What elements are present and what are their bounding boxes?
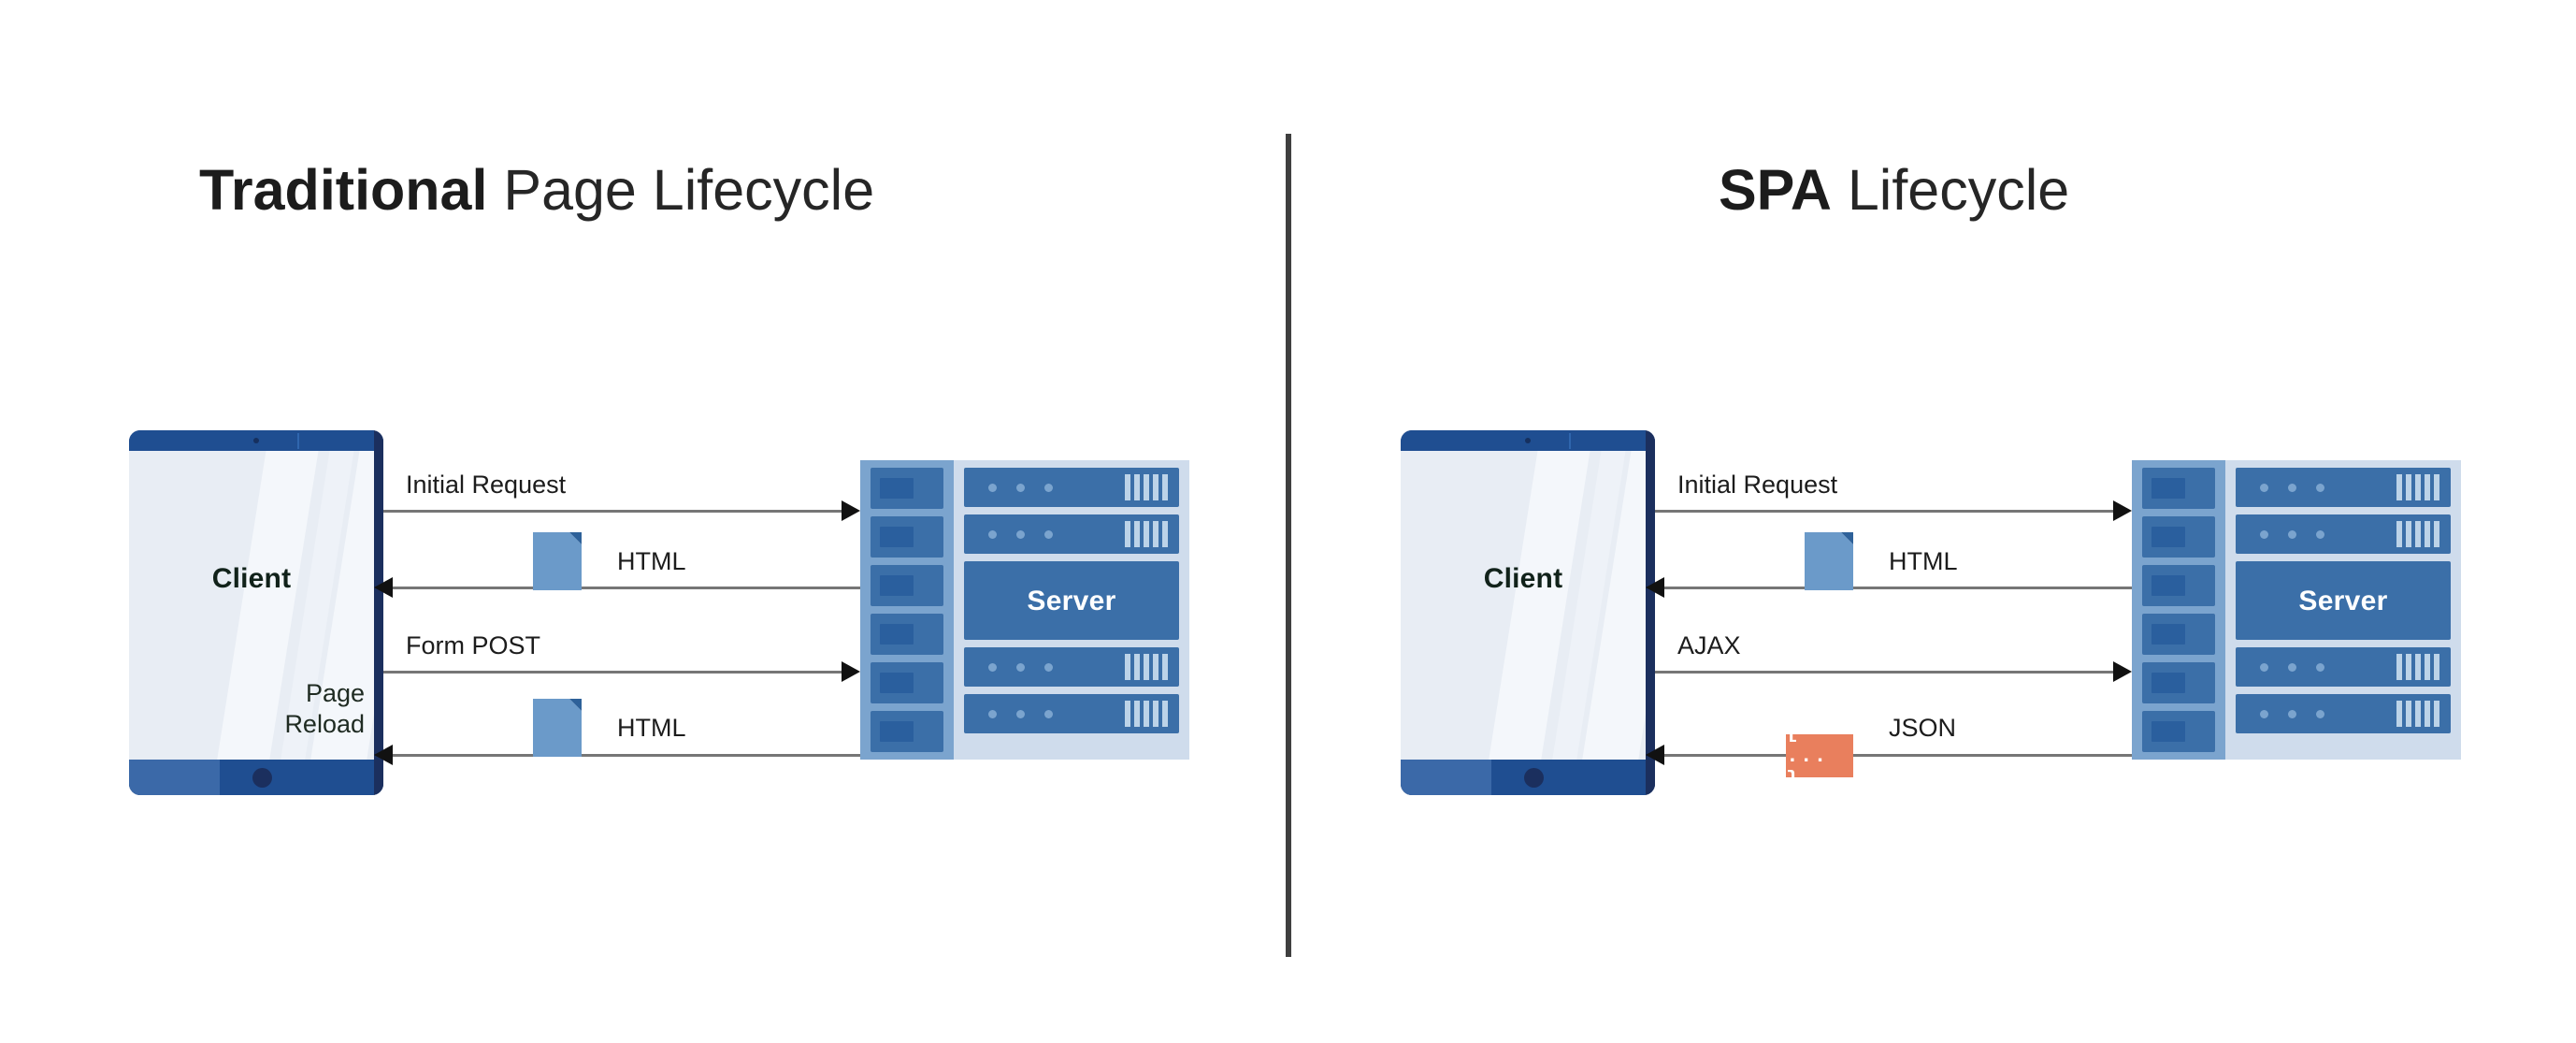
status-led-icon <box>2316 530 2324 539</box>
page-title-spa: SPA Lifecycle <box>1719 157 2069 223</box>
vent-bars-icon <box>1125 654 1168 680</box>
status-led-icon <box>1044 663 1053 672</box>
rack-bay <box>871 516 943 558</box>
status-led-icon <box>2288 663 2296 672</box>
client-label-spa: Client <box>1401 563 1646 595</box>
vent-bars-icon <box>2396 701 2439 727</box>
flow-line-html-2-traditional <box>393 754 860 757</box>
status-led-icon <box>2260 530 2268 539</box>
flow-line-form-post-traditional <box>383 671 843 674</box>
rack-bay <box>871 662 943 703</box>
flow-label-html-2-traditional: HTML <box>617 714 686 743</box>
rack-bay-inner <box>880 527 914 547</box>
status-led-icon <box>2288 484 2296 492</box>
rack-bay <box>871 614 943 655</box>
home-button-icon[interactable] <box>1524 768 1544 788</box>
server-rack-spa: Server <box>2132 460 2461 760</box>
title-rest-traditional: Page Lifecycle <box>487 158 874 222</box>
status-led-icon <box>988 484 997 492</box>
server-rack-traditional: Server <box>860 460 1189 760</box>
doc-fold-shadow-icon <box>569 532 582 544</box>
rack-bay-inner <box>2151 624 2185 645</box>
client-label-traditional: Client <box>129 563 374 595</box>
flow-line-html-1-traditional <box>393 587 860 589</box>
rack-bay <box>2142 614 2215 655</box>
rack-bay-inner <box>880 575 914 596</box>
diagram-canvas: Traditional Page Lifecycle Client Page R… <box>0 0 2576 1043</box>
server-unit <box>2236 468 2451 507</box>
json-payload-badge: [ ... } <box>1786 734 1853 777</box>
status-led-icon <box>988 710 997 718</box>
rack-bay <box>2142 662 2215 703</box>
server-label-spa: Server <box>2236 586 2451 617</box>
home-button-icon[interactable] <box>252 768 272 788</box>
doc-fold-shadow-icon <box>1841 532 1853 544</box>
rack-bay-inner <box>880 478 914 499</box>
flow-label-html-1-traditional: HTML <box>617 547 686 576</box>
flow-label-html-spa: HTML <box>1889 547 1958 576</box>
flow-line-initial-request-spa <box>1655 510 2115 513</box>
vent-bars-icon <box>1125 474 1168 500</box>
title-strong-traditional: Traditional <box>199 158 487 222</box>
client-bezel-spa <box>1646 430 1655 795</box>
client-screen-spa: Client <box>1401 451 1646 760</box>
rack-bay <box>2142 711 2215 752</box>
rack-bay-inner <box>2151 575 2185 596</box>
flow-label-form-post-traditional: Form POST <box>406 631 540 660</box>
html-document-icon <box>1805 532 1853 590</box>
status-led-icon <box>1044 484 1053 492</box>
html-document-icon <box>533 532 582 590</box>
flow-arrowhead-left <box>374 577 393 598</box>
flow-arrowhead-left <box>1646 745 1664 765</box>
vent-bars-icon <box>2396 654 2439 680</box>
server-unit <box>964 514 1179 554</box>
rack-column-bays-spa <box>2132 460 2225 760</box>
flow-line-ajax-spa <box>1655 671 2115 674</box>
rack-column-bays-traditional <box>860 460 954 760</box>
client-topbar-spa <box>1401 430 1655 451</box>
rack-bay <box>871 468 943 509</box>
status-led-icon <box>1016 530 1025 539</box>
flow-line-initial-request-traditional <box>383 510 843 513</box>
server-unit <box>2236 647 2451 687</box>
flow-arrowhead-left <box>1646 577 1664 598</box>
server-main-unit-spa: Server <box>2236 561 2451 640</box>
status-led-icon <box>1016 663 1025 672</box>
rack-bay <box>871 565 943 606</box>
status-led-icon <box>1016 484 1025 492</box>
vent-bars-icon <box>2396 474 2439 500</box>
flow-label-ajax-spa: AJAX <box>1677 631 1741 660</box>
status-led-icon <box>988 530 997 539</box>
status-led-icon <box>2288 710 2296 718</box>
status-led-icon <box>1016 710 1025 718</box>
client-device-spa: Client <box>1401 430 1655 795</box>
rack-bay-inner <box>2151 673 2185 693</box>
vent-bars-icon <box>1125 521 1168 547</box>
status-led-icon <box>2260 484 2268 492</box>
status-led-icon <box>2316 663 2324 672</box>
client-screen-traditional: Client Page Reload <box>129 451 374 760</box>
camera-icon <box>253 438 259 443</box>
flow-label-json-spa: JSON <box>1889 714 1956 743</box>
flow-label-initial-request-traditional: Initial Request <box>406 471 566 500</box>
vent-bars-icon <box>1125 701 1168 727</box>
bottombar-highlight <box>129 760 220 795</box>
server-unit <box>964 647 1179 687</box>
rack-bay-inner <box>880 673 914 693</box>
status-led-icon <box>2260 663 2268 672</box>
flow-label-initial-request-spa: Initial Request <box>1677 471 1837 500</box>
topbar-seam <box>1569 433 1571 449</box>
status-led-icon <box>2316 710 2324 718</box>
rack-bay <box>871 711 943 752</box>
rack-bay-inner <box>2151 527 2185 547</box>
rack-column-units-traditional: Server <box>954 460 1189 760</box>
server-main-unit-traditional: Server <box>964 561 1179 640</box>
client-sublabel-traditional: Page Reload <box>215 678 365 740</box>
status-led-icon <box>2288 530 2296 539</box>
flow-arrowhead-right <box>842 500 860 521</box>
bottombar-highlight <box>1401 760 1491 795</box>
client-topbar-traditional <box>129 430 383 451</box>
html-document-icon <box>533 699 582 757</box>
rack-bay-inner <box>880 721 914 742</box>
panel-spa: SPA Lifecycle Client <box>1290 0 2576 1043</box>
camera-icon <box>1525 438 1531 443</box>
title-strong-spa: SPA <box>1719 158 1832 222</box>
status-led-icon <box>1044 530 1053 539</box>
rack-bay-inner <box>880 624 914 645</box>
flow-arrowhead-right <box>2113 661 2132 682</box>
server-unit <box>964 694 1179 733</box>
rack-bay-inner <box>2151 721 2185 742</box>
server-label-traditional: Server <box>964 586 1179 617</box>
status-led-icon <box>1044 710 1053 718</box>
title-rest-spa: Lifecycle <box>1832 158 2069 222</box>
topbar-seam <box>297 433 299 449</box>
flow-line-json-spa <box>1664 754 2132 757</box>
flow-arrowhead-right <box>2113 500 2132 521</box>
status-led-icon <box>988 663 997 672</box>
flow-arrowhead-right <box>842 661 860 682</box>
server-unit <box>2236 514 2451 554</box>
rack-bay <box>2142 516 2215 558</box>
page-title-traditional: Traditional Page Lifecycle <box>199 157 874 223</box>
vent-bars-icon <box>2396 521 2439 547</box>
client-device-traditional: Client Page Reload <box>129 430 383 795</box>
rack-bay-inner <box>2151 478 2185 499</box>
flow-line-html-spa <box>1664 587 2132 589</box>
server-unit <box>964 468 1179 507</box>
flow-arrowhead-left <box>374 745 393 765</box>
rack-bay <box>2142 565 2215 606</box>
status-led-icon <box>2260 710 2268 718</box>
status-led-icon <box>2316 484 2324 492</box>
panel-traditional: Traditional Page Lifecycle Client Page R… <box>0 0 1287 1043</box>
rack-column-units-spa: Server <box>2225 460 2461 760</box>
client-bottombar-traditional <box>129 760 383 795</box>
rack-bay <box>2142 468 2215 509</box>
server-unit <box>2236 694 2451 733</box>
client-bezel-traditional <box>374 430 383 795</box>
client-bottombar-spa <box>1401 760 1655 795</box>
doc-fold-shadow-icon <box>569 699 582 711</box>
